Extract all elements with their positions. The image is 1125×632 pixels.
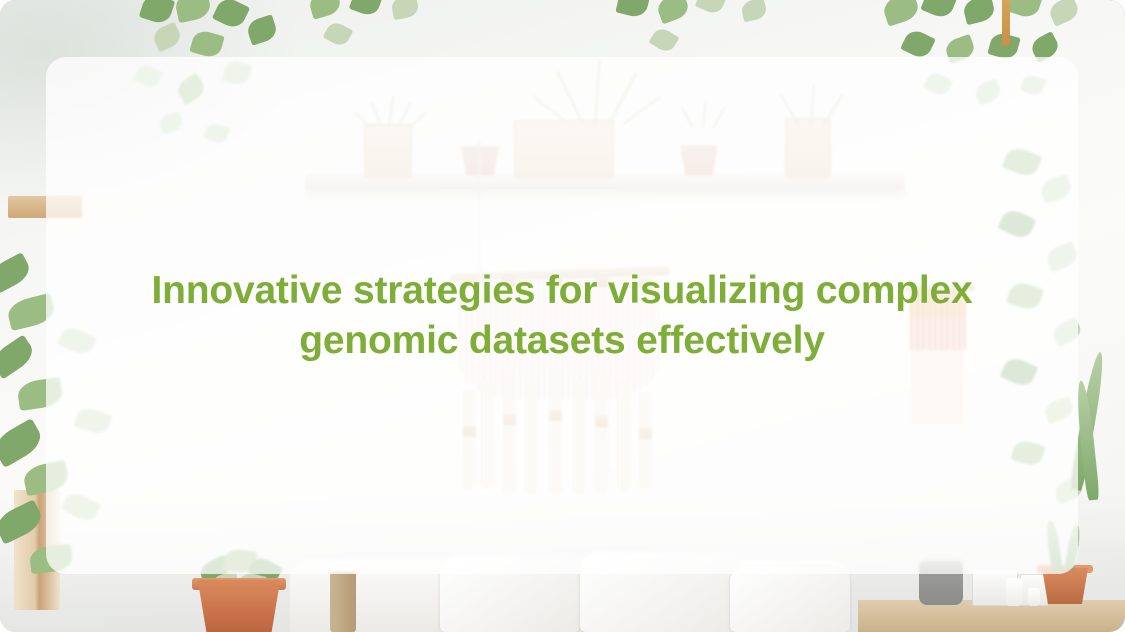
slide-canvas: Innovative strategies for visualizing co…	[0, 0, 1125, 632]
white-bottle-b	[1028, 588, 1040, 606]
bed-frame-post	[330, 572, 356, 632]
pillow-right	[730, 566, 850, 632]
terracotta-pot-large	[196, 580, 282, 632]
white-bottle-a	[1006, 578, 1022, 606]
translucent-overlay-panel	[46, 57, 1078, 574]
